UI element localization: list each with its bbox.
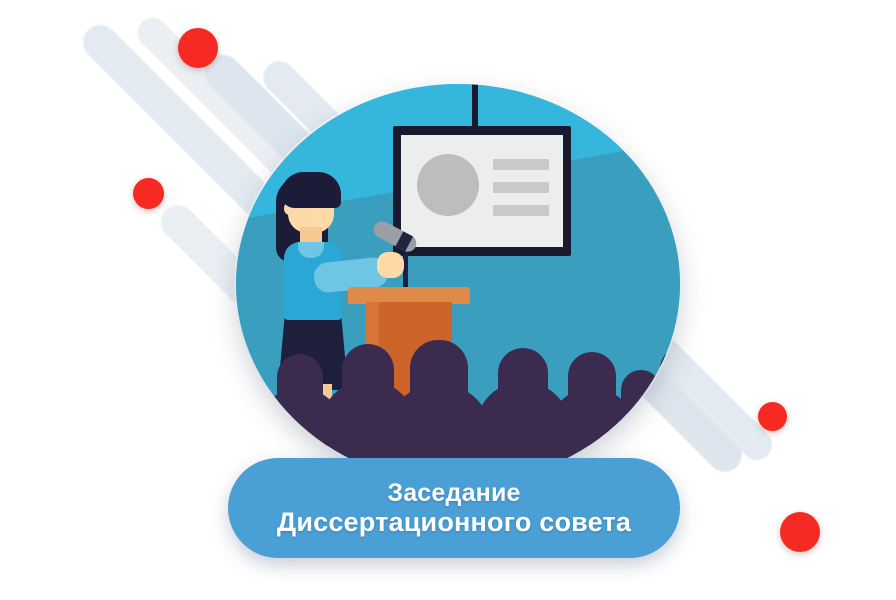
conference-illustration [236, 84, 680, 484]
decorative-dot [178, 28, 218, 68]
title-banner: Заседание Диссертационного совета [228, 458, 680, 558]
decorative-dot [780, 512, 820, 552]
illustration-circle [236, 84, 680, 484]
microphone-stand-icon [403, 252, 408, 292]
speaker-hair [281, 172, 341, 208]
banner-title-line-2: Диссертационного совета [277, 507, 631, 537]
slide-text-line [493, 182, 549, 193]
speaker-hand [377, 252, 404, 278]
projector-cable-icon [472, 84, 478, 128]
slide-text-line [493, 159, 549, 170]
illustration-card: Заседание Диссертационного совета [0, 0, 896, 600]
decorative-dot [133, 178, 164, 209]
slide-avatar-icon [417, 154, 479, 216]
banner-title-line-1: Заседание [387, 479, 520, 507]
slide-text-line [493, 205, 549, 216]
decorative-dot [758, 402, 787, 431]
screen-surface [401, 135, 563, 247]
presentation-screen-icon [393, 126, 571, 256]
